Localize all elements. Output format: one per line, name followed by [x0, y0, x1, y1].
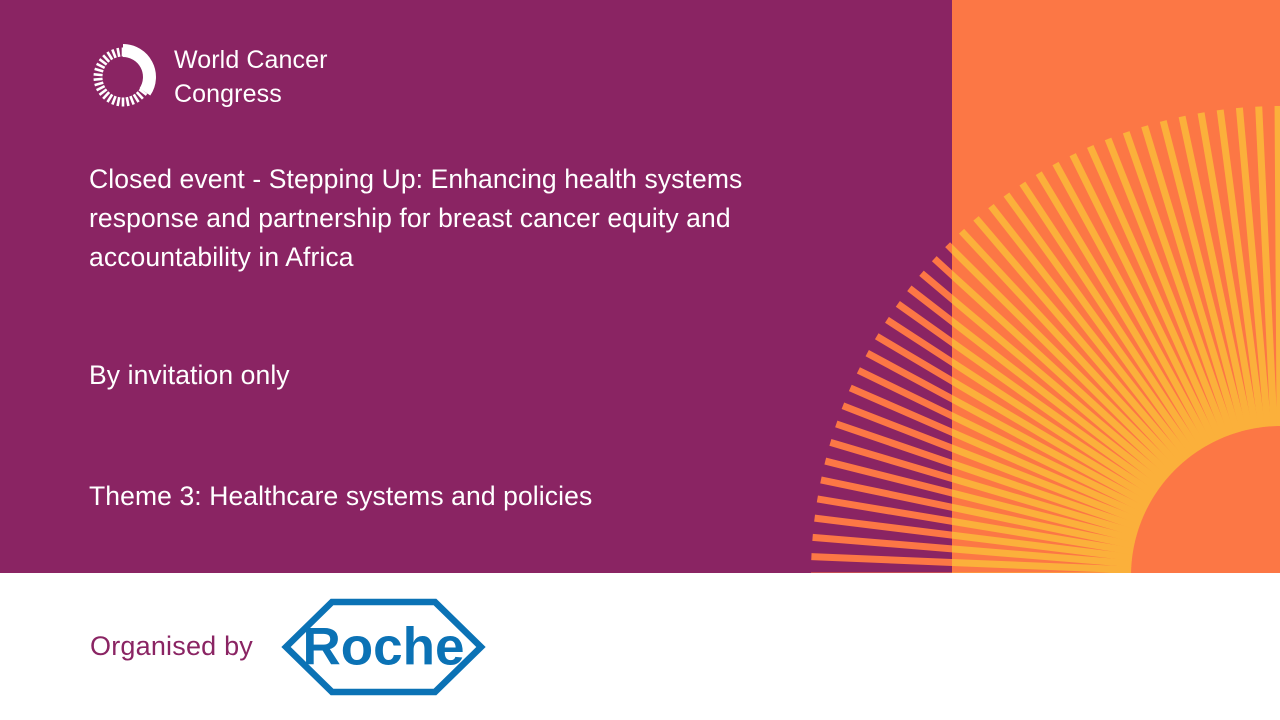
world-cancer-congress-logo: World Cancer Congress	[90, 43, 328, 111]
hero-section: World Cancer Congress Closed event - Ste…	[0, 0, 1280, 573]
organised-by-label: Organised by	[90, 631, 253, 662]
wcc-wordmark: World Cancer Congress	[174, 43, 328, 111]
roche-hexagon-logo: Roche	[281, 597, 486, 697]
wcc-ring-mark-icon	[90, 44, 156, 110]
footer-section: Organised by Roche	[0, 573, 1280, 720]
access-note: By invitation only	[89, 356, 290, 395]
event-slide: World Cancer Congress Closed event - Ste…	[0, 0, 1280, 720]
roche-wordmark: Roche	[303, 617, 465, 676]
event-theme: Theme 3: Healthcare systems and policies	[89, 477, 592, 516]
event-title: Closed event - Stepping Up: Enhancing he…	[89, 160, 849, 277]
